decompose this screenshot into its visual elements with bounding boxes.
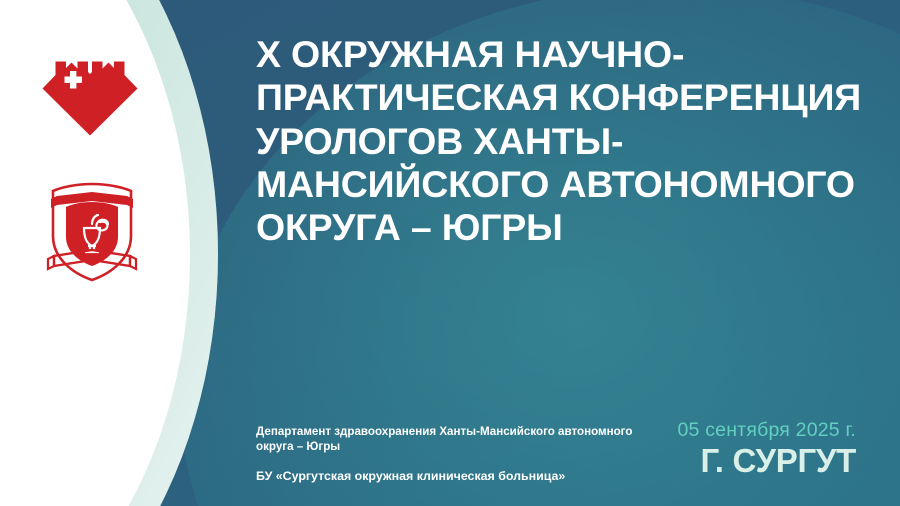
event-date: 05 сентября 2025 г. [678,420,856,441]
conference-poster: X ОКРУЖНАЯ НАУЧНО-ПРАКТИЧЕСКАЯ КОНФЕРЕНЦ… [0,0,900,506]
shield-emblem-logo [44,180,140,284]
heart-cross-logo [38,36,142,136]
organizer-department: Департамент здравоохранения Ханты-Мансий… [256,424,656,455]
organizer-hospital: БУ «Сургутская окружная клиническая боль… [256,468,656,485]
page-title: X ОКРУЖНАЯ НАУЧНО-ПРАКТИЧЕСКАЯ КОНФЕРЕНЦ… [256,33,876,250]
white-panel-edge [0,0,4,506]
date-location-block: 05 сентября 2025 г. г. СУРГУТ [678,420,856,479]
organizer-block: Департамент здравоохранения Ханты-Мансий… [256,424,656,484]
event-city: г. СУРГУТ [678,444,856,479]
